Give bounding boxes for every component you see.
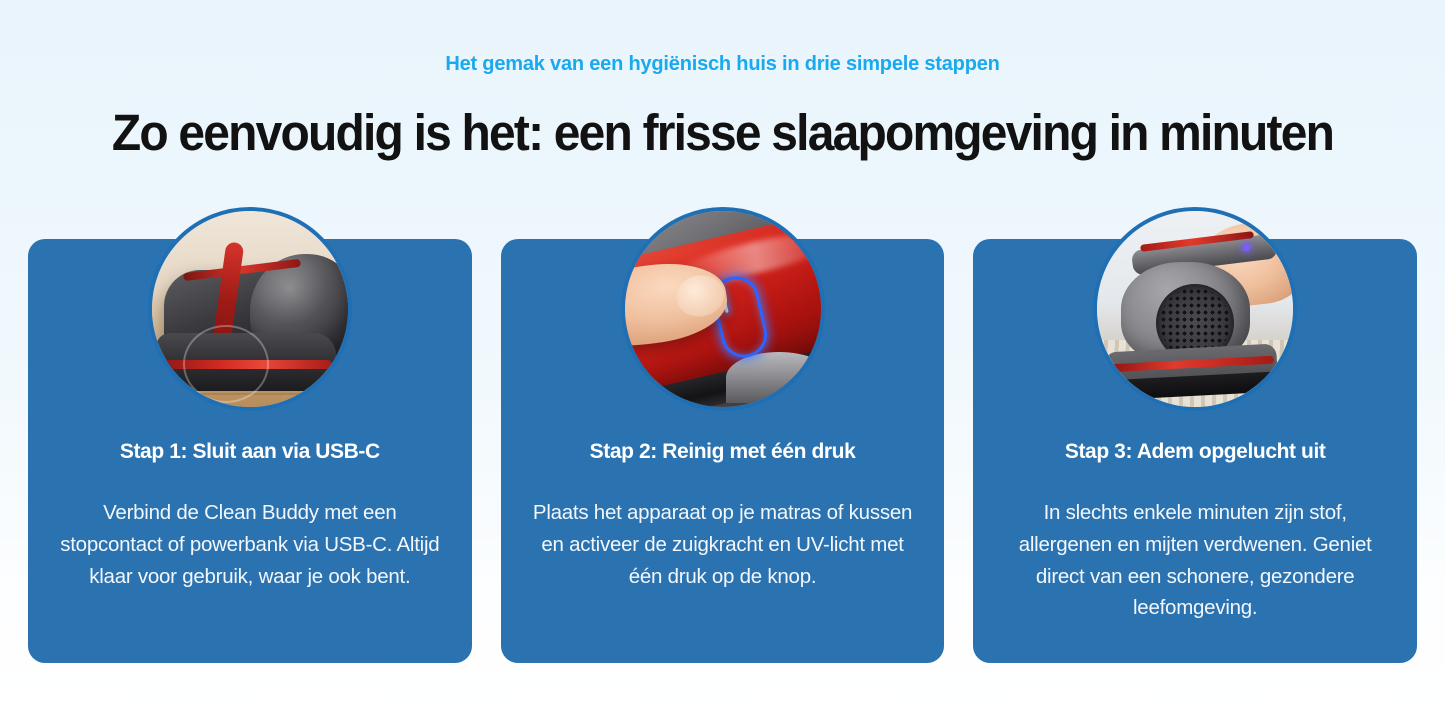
- step-card-1: Stap 1: Sluit aan via USB-C Verbind de C…: [28, 239, 472, 663]
- step-1-title: Stap 1: Sluit aan via USB-C: [48, 439, 452, 465]
- step-2-title: Stap 2: Reinig met één druk: [521, 439, 925, 465]
- step-3-title: Stap 3: Adem opgelucht uit: [993, 439, 1397, 465]
- steps-card-row: Stap 1: Sluit aan via USB-C Verbind de C…: [28, 239, 1417, 663]
- step-1-body: Verbind de Clean Buddy met een stopconta…: [54, 497, 446, 592]
- device-cleaning-mattress-photo: [1097, 211, 1293, 407]
- device-on-charging-dock-photo: [152, 211, 348, 407]
- page-title: Zo eenvoudig is het: een frisse slaapomg…: [43, 105, 1401, 160]
- page-header: Het gemak van een hygiënisch huis in dri…: [0, 0, 1445, 160]
- eyebrow-text: Het gemak van een hygiënisch huis in dri…: [0, 52, 1445, 76]
- step-2-body: Plaats het apparaat op je matras of kuss…: [527, 497, 919, 592]
- thumbnail-shape: [673, 272, 726, 319]
- highlight-arc: [183, 325, 269, 403]
- step-3-body: In slechts enkele minuten zijn stof, all…: [999, 497, 1391, 624]
- chrome-canister-edge: [726, 352, 820, 403]
- step-card-2: Stap 2: Reinig met één druk Plaats het a…: [501, 239, 945, 663]
- step-3-image-circle: [1093, 207, 1297, 411]
- step-2-image-circle: [621, 207, 825, 411]
- step-card-3: Stap 3: Adem opgelucht uit In slechts en…: [973, 239, 1417, 663]
- thumb-pressing-power-button-photo: [625, 211, 821, 407]
- step-1-image-circle: [148, 207, 352, 411]
